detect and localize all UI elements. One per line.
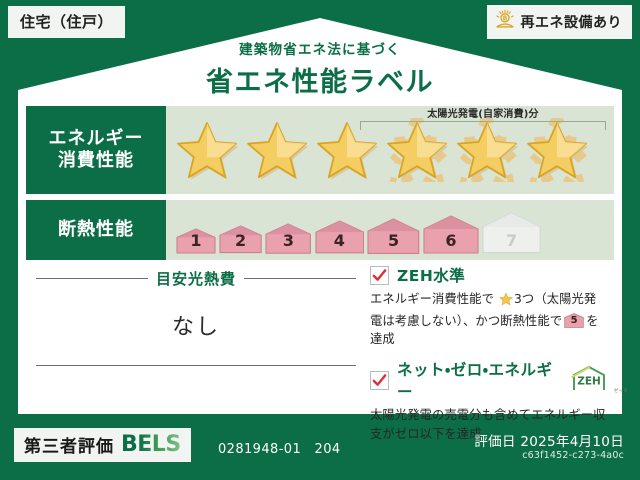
energy-performance-label: エネルギー 消費性能	[26, 106, 166, 194]
document-type-tag: 住宅（住戸）	[8, 6, 125, 38]
insulation-level-active: 6	[423, 215, 479, 254]
criterion-zeh-standard: ZEH水準 エネルギー消費性能で 3つ（太陽光発電は考慮しない）、かつ断熱性能で…	[370, 264, 608, 349]
insulation-level-inactive: 7	[482, 212, 541, 254]
title-block: 建築物省エネ法に基づく 省エネ性能ラベル	[0, 38, 640, 99]
star-filled	[174, 118, 240, 182]
bels-evaluation-badge: 第三者評価 BELS	[14, 428, 191, 462]
insulation-level-number: 2	[219, 231, 262, 250]
star-filled	[244, 118, 310, 182]
insulation-performance-label: 断熱性能	[26, 200, 166, 260]
insulation-level-number: 6	[423, 231, 479, 250]
utility-cost-heading-label: 目安光熱費	[156, 268, 236, 289]
evaluation-hash: c63f1452-c273-4a0c	[522, 450, 624, 461]
criterion-zeh-standard-title: ZEH水準	[397, 264, 465, 286]
insulation-level-number: 5	[367, 231, 420, 250]
label-footer: 第三者評価 BELS 0281948-01 204 評価日 2025年4月10日…	[0, 414, 640, 480]
zeh-logo-icon: ZEH ゼッチ	[570, 365, 608, 395]
solar-annotation-label: 太陽光発電(自家消費)分	[360, 105, 606, 120]
insulation-level-number: 7	[482, 231, 541, 250]
energy-stars-area: 太陽光発電(自家消費)分	[166, 106, 614, 194]
insulation-level-scale: 1234567	[166, 200, 614, 260]
solar-bracket	[360, 121, 606, 130]
insulation-level-active: 5	[367, 218, 420, 254]
rule-right	[244, 278, 356, 279]
criterion-zeh-standard-body: エネルギー消費性能で 3つ（太陽光発電は考慮しない）、かつ断熱性能で 5 を達成	[370, 290, 608, 349]
insulation-level-active: 2	[219, 225, 262, 254]
evaluation-date: 評価日 2025年4月10日	[474, 430, 624, 450]
certificate-number: 0281948-01 204	[218, 438, 341, 457]
insulation-performance-row: 断熱性能 1234567	[26, 200, 614, 260]
energy-performance-row: エネルギー 消費性能 太陽光発電(自家消費)分	[26, 106, 614, 194]
checkmark-icon	[370, 266, 389, 285]
inline-insulation-badge: 5	[564, 313, 584, 328]
criterion-net-zero-energy-title: ネット・ゼロ・エネルギー	[397, 358, 559, 402]
solar-annotation: 太陽光発電(自家消費)分	[360, 105, 606, 130]
insulation-level-active: 3	[265, 223, 311, 254]
zeh-logo-subtext: ゼッチ	[614, 388, 628, 394]
utility-cost-underline	[36, 365, 356, 366]
rule-left	[36, 278, 148, 279]
utility-cost-value: なし	[36, 309, 356, 341]
insulation-level-number: 4	[315, 231, 365, 250]
insulation-level-active: 4	[315, 220, 365, 254]
label-card: エネルギー 消費性能 太陽光発電(自家消費)分 断熱性能 1234567	[26, 96, 614, 414]
utility-cost-block: 目安光熱費 なし	[36, 268, 356, 366]
insulation-level-number: 3	[265, 231, 311, 250]
criterion-net-zero-energy-head: ネット・ゼロ・エネルギー ZEH ゼッチ	[370, 358, 608, 402]
page-title: 省エネ性能ラベル	[0, 60, 640, 99]
bels-jp-label: 第三者評価	[24, 432, 114, 457]
inline-star-icon	[499, 292, 513, 312]
checkmark-icon	[370, 371, 389, 390]
insulation-level-active: 1	[176, 228, 216, 254]
bels-en-label: BELS	[121, 432, 181, 457]
energy-performance-label: 住宅（住戸） 再エネ設備あり 建築物省エ	[0, 0, 640, 480]
solar-sun-icon	[494, 9, 516, 35]
svg-text:ZEH: ZEH	[577, 376, 601, 388]
renewable-equipment-badge: 再エネ設備あり	[487, 5, 633, 39]
utility-cost-heading: 目安光熱費	[36, 268, 356, 289]
criterion-zeh-standard-head: ZEH水準	[370, 264, 608, 286]
criterion-body-pre: エネルギー消費性能で	[370, 292, 494, 306]
title-subtitle: 建築物省エネ法に基づく	[0, 38, 640, 58]
inline-insulation-level: 5	[564, 313, 584, 328]
insulation-level-number: 1	[176, 231, 216, 250]
renewable-badge-label: 再エネ設備あり	[521, 12, 623, 32]
